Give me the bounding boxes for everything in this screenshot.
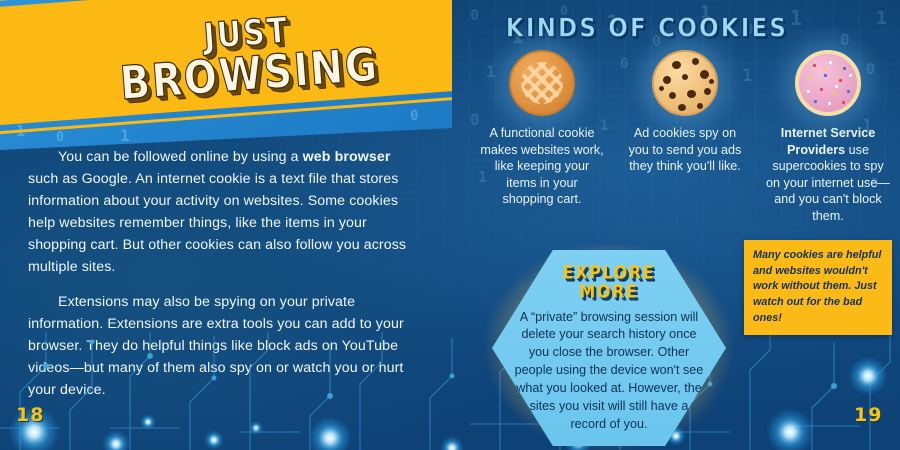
circuit-board-decoration (0, 332, 900, 450)
page-number-left: 18 (16, 404, 44, 426)
banner-bar (0, 0, 452, 127)
cookie-caption-ad: Ad cookies spy on you to send you ads th… (623, 125, 747, 175)
para1-part1: You can be followed online by using a (58, 149, 303, 165)
book-spread: 0 1 0 1 0 1 0 1 0 1 1 0 1 0 0 1 1 1 0 1 … (0, 0, 900, 450)
circuit-traces (0, 332, 900, 450)
title-panel: 1 0 0 1 0 1 0 1 0 1 0 1 0 1 0 1 0 (0, 0, 452, 150)
title-banner (0, 0, 452, 127)
chocolate-chip-cookie-icon (652, 50, 718, 116)
kinds-of-cookies-heading: KINDS OF COOKIES (502, 14, 792, 43)
cookie-item-functional: A functional cookie makes websites work,… (480, 50, 604, 208)
paragraph-1: You can be followed online by using a we… (28, 146, 420, 278)
web-browser-bold: web browser (303, 149, 391, 165)
cookie-caption-isp: Internet Service Providers use supercook… (766, 125, 890, 225)
page-number-right: 19 (854, 404, 882, 426)
explore-title-line-2: MORE (563, 283, 656, 302)
cookie-caption-functional: A functional cookie makes websites work,… (480, 125, 604, 208)
cookie-item-ad: Ad cookies spy on you to send you ads th… (623, 50, 747, 175)
explore-more-body: A “private” browsing session will delete… (510, 309, 708, 434)
cookie-list: A functional cookie makes websites work,… (480, 50, 890, 225)
note-box: Many cookies are helpful and websites wo… (744, 240, 892, 335)
peanut-butter-cookie-icon (509, 50, 575, 116)
frosted-sprinkle-cookie-icon (795, 50, 861, 116)
cookie-item-isp: Internet Service Providers use supercook… (766, 50, 890, 225)
explore-more-title: EXPLORE MORE (563, 264, 656, 302)
para1-part2: such as Google. An internet cookie is a … (28, 171, 406, 275)
